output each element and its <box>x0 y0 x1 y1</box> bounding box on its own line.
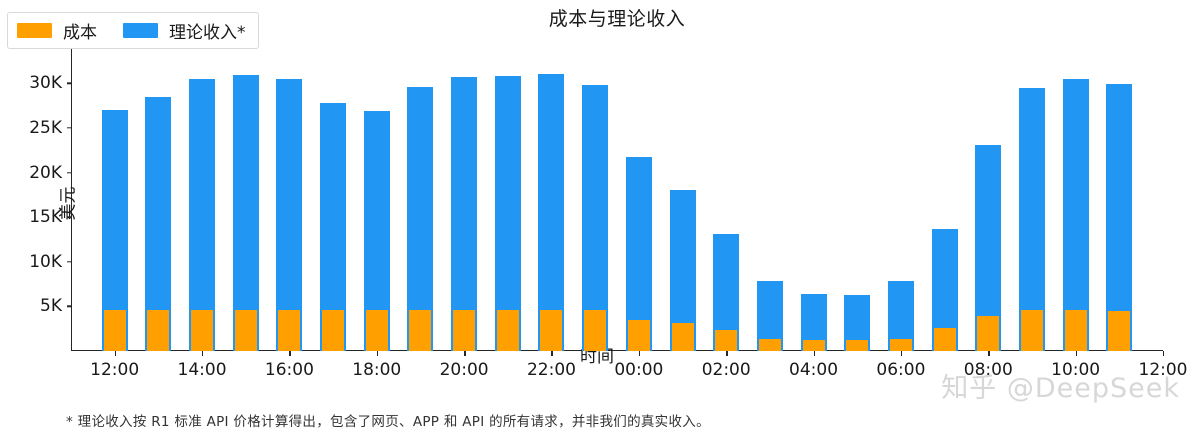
y-axis-tick-mark <box>67 172 72 173</box>
bar-cost <box>366 310 388 351</box>
bar-cost <box>977 316 999 351</box>
y-axis-tick-label: 5K <box>2 296 71 316</box>
legend-swatch-icon <box>17 23 52 38</box>
bar-cost <box>497 310 519 351</box>
legend-entry: 成本 <box>17 18 97 43</box>
watermark: 知乎 @DeepSeek <box>941 366 1180 405</box>
chart-legend: 成本理论收入* <box>7 12 259 49</box>
bar-cost <box>278 310 300 351</box>
legend-label: 理论收入* <box>169 18 246 43</box>
bar-cost <box>453 310 475 351</box>
chart-figure: 成本与理论收入 美元 5K10K15K20K25K30K35K 12:0014:… <box>0 0 1194 441</box>
y-axis-tick-label: 15K <box>2 207 71 227</box>
bar-cost <box>191 310 213 351</box>
bar-cost <box>584 310 606 351</box>
bar-cost <box>672 323 694 351</box>
bar-cost <box>628 320 650 351</box>
y-axis-tick-label: 10K <box>2 252 71 272</box>
bar-cost <box>104 310 126 351</box>
y-axis-tick-mark <box>67 83 72 84</box>
y-axis-tick-mark <box>67 261 72 262</box>
legend-entry: 理论收入* <box>123 18 246 43</box>
y-axis-tick-label: 20K <box>2 163 71 183</box>
legend-label: 成本 <box>63 18 97 43</box>
bar-cost <box>803 340 825 351</box>
bar-cost <box>540 310 562 351</box>
bar-cost <box>934 328 956 351</box>
y-axis-tick-label: 30K <box>2 73 71 93</box>
bar-cost <box>1108 311 1130 351</box>
bar-cost <box>890 339 912 351</box>
bar-cost <box>147 310 169 351</box>
bar-cost <box>846 340 868 351</box>
plot-area: 美元 5K10K15K20K25K30K35K 12:0014:0016:001… <box>71 21 1163 351</box>
bar-cost <box>1065 310 1087 351</box>
y-axis-tick-mark <box>67 127 72 128</box>
bar-cost <box>409 310 431 351</box>
bar-cost <box>235 310 257 351</box>
bar-cost <box>715 330 737 351</box>
bar-cost <box>322 310 344 351</box>
bar-cost <box>1021 310 1043 351</box>
footnote-text: * 理论收入按 R1 标准 API 价格计算得出，包含了网页、APP 和 API… <box>66 410 710 430</box>
y-axis-tick-label: 25K <box>2 118 71 138</box>
bar-cost <box>759 339 781 351</box>
y-axis-tick-mark <box>67 217 72 218</box>
y-axis-tick-mark <box>67 306 72 307</box>
legend-swatch-icon <box>123 23 158 38</box>
